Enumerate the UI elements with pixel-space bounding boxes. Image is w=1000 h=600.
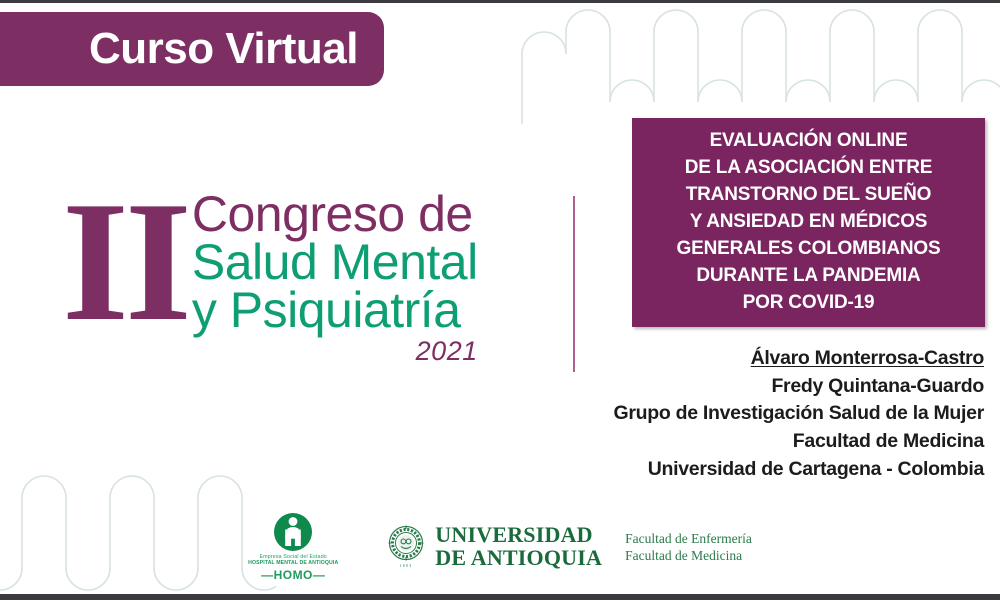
presentation-slide: Curso Virtual II Congreso de Salud Menta…	[0, 0, 1000, 600]
logo-strip: Empresa Social del Estado HOSPITAL MENTA…	[0, 512, 1000, 582]
udea-wordmark-line-2: DE ANTIOQUIA	[435, 547, 602, 570]
congress-year: 2021	[192, 336, 478, 367]
author-affiliation-block: Álvaro Monterrosa-Castro Fredy Quintana-…	[564, 345, 984, 483]
congress-roman-numeral: II	[62, 192, 188, 333]
title-line-5: GENERALES COLOMBIANOS	[677, 236, 941, 263]
udea-wordmark-line-1: UNIVERSIDAD	[435, 524, 602, 547]
congress-line-salud-mental: Salud Mental	[192, 238, 478, 286]
author-primary: Álvaro Monterrosa-Castro	[564, 345, 984, 373]
affiliation-faculty: Facultad de Medicina	[564, 428, 984, 456]
curso-virtual-banner: Curso Virtual	[0, 12, 384, 86]
top-edge-band	[0, 0, 1000, 3]
title-line-3: TRANSTORNO DEL SUEÑO	[686, 182, 932, 209]
udea-crest-seal-icon: 1803	[386, 524, 426, 570]
congress-title-lines: Congreso de Salud Mental y Psiquiatría 2…	[192, 190, 478, 367]
congress-line-psiquiatria: y Psiquiatría	[192, 286, 478, 334]
udea-faculties: Facultad de Enfermería Facultad de Medic…	[625, 530, 752, 565]
svg-text:1803: 1803	[400, 563, 413, 568]
universidad-de-antioquia-logo: 1803 UNIVERSIDAD DE ANTIOQUIA Facultad d…	[386, 524, 752, 570]
title-line-4: Y ANSIEDAD EN MÉDICOS	[690, 209, 928, 236]
congress-lockup: II Congreso de Salud Mental y Psiquiatrí…	[62, 186, 478, 367]
title-line-1: EVALUACIÓN ONLINE	[710, 128, 908, 155]
title-line-6: DURANTE LA PANDEMIA	[696, 263, 920, 290]
homo-circle-mark-icon	[266, 512, 320, 552]
presentation-title-box: EVALUACIÓN ONLINE DE LA ASOCIACIÓN ENTRE…	[632, 118, 985, 327]
title-line-7: POR COVID-19	[743, 290, 875, 317]
homo-hospital-logo: Empresa Social del Estado HOSPITAL MENTA…	[248, 512, 338, 582]
congress-line-congreso: Congreso de	[192, 190, 478, 238]
udea-faculty-enfermeria: Facultad de Enfermería	[625, 530, 752, 547]
serpentine-wave-top-right-icon	[520, 6, 1000, 124]
affiliation-university: Universidad de Cartagena - Colombia	[564, 456, 984, 484]
bottom-edge-band	[0, 594, 1000, 600]
homo-hospital-line: HOSPITAL MENTAL DE ANTIOQUIA	[248, 560, 338, 566]
udea-faculty-medicina: Facultad de Medicina	[625, 547, 752, 564]
curso-virtual-label: Curso Virtual	[89, 27, 358, 71]
affiliation-research-group: Grupo de Investigación Salud de la Mujer	[564, 400, 984, 428]
udea-wordmark: UNIVERSIDAD DE ANTIOQUIA	[435, 524, 602, 570]
homo-wordmark: —HOMO—	[261, 568, 325, 582]
author-secondary: Fredy Quintana-Guardo	[564, 373, 984, 401]
title-line-2: DE LA ASOCIACIÓN ENTRE	[685, 155, 933, 182]
